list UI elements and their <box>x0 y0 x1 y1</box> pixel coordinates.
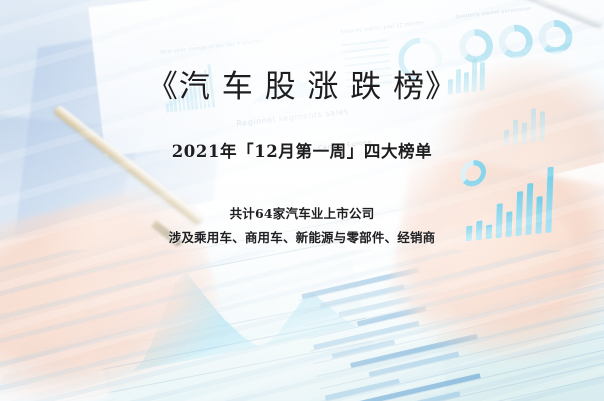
poster-text-block: 《汽 车 股 涨 跌 榜》 2021年「12月第一周」四大榜单 共计64家汽车业… <box>0 0 604 401</box>
page-title: 《汽 车 股 涨 跌 榜》 <box>147 72 457 103</box>
poster-image: Total sales change of the last 4 quarter… <box>0 0 604 401</box>
poster-body-line-2: 涉及乘用车、商用车、新能源与零部件、经销商 <box>169 232 436 245</box>
poster-body-line-1: 共计64家汽车业上市公司 <box>230 208 375 221</box>
poster-subtitle: 2021年「12月第一周」四大榜单 <box>172 144 433 161</box>
